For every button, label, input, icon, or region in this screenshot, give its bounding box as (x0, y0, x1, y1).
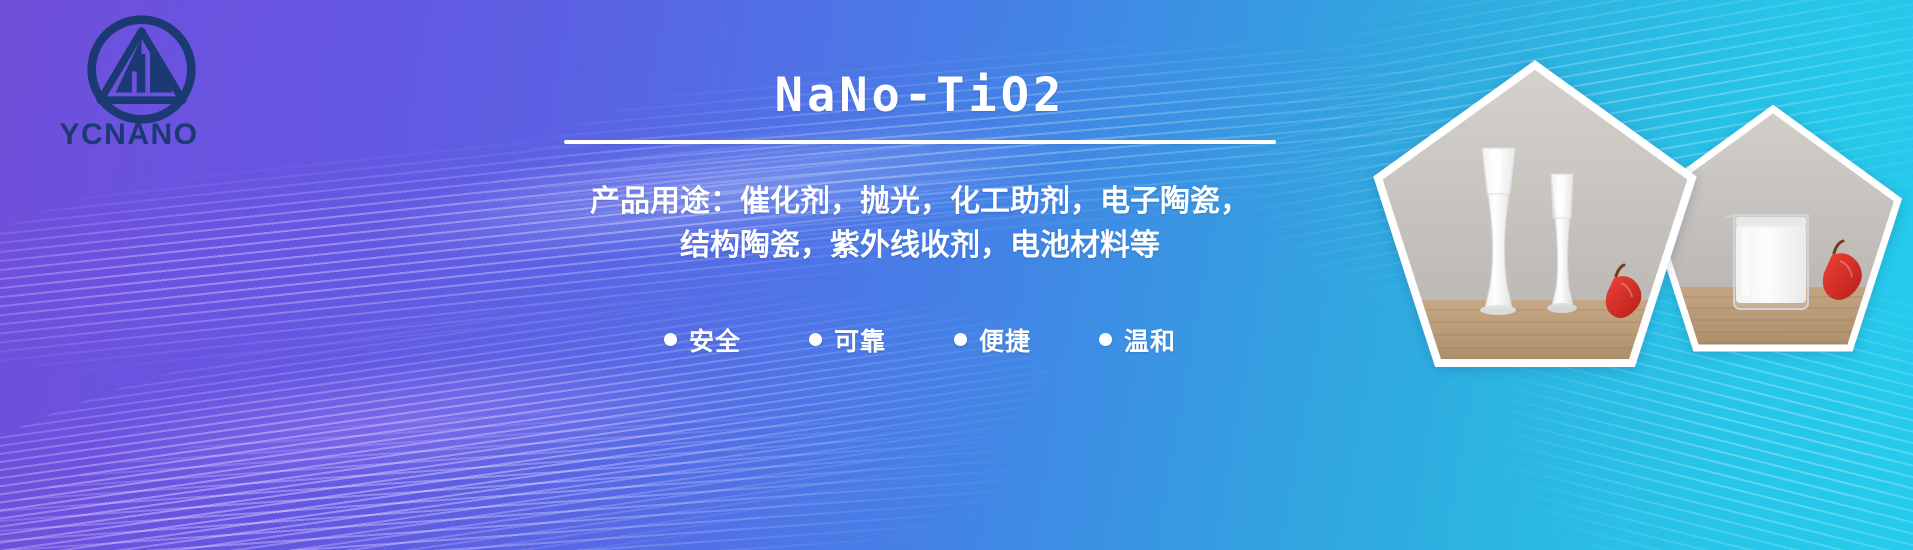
title-divider (564, 140, 1276, 144)
filled-circle-bullet-icon (809, 333, 822, 346)
brand-logo[interactable]: YCNANO (34, 10, 224, 160)
white-vases-photo[interactable] (1370, 60, 1700, 370)
feature-item-mild: 温和 (1099, 322, 1176, 358)
page-title: NaNo-TiO2 (775, 72, 1066, 119)
feature-label: 温和 (1124, 322, 1176, 358)
filled-circle-bullet-icon (664, 333, 677, 346)
product-photo-group (1370, 60, 1913, 480)
banner-content: NaNo-TiO2 产品用途：催化剂，抛光，化工助剂，电子陶瓷， 结构陶瓷，紫外… (470, 0, 1370, 550)
product-banner: YCNANO NaNo-TiO2 产品用途：催化剂，抛光，化工助剂，电子陶瓷， … (0, 0, 1913, 550)
filled-circle-bullet-icon (954, 333, 967, 346)
feature-item-reliable: 可靠 (809, 322, 886, 358)
feature-item-safe: 安全 (664, 322, 741, 358)
feature-label: 安全 (689, 322, 741, 358)
product-description: 产品用途：催化剂，抛光，化工助剂，电子陶瓷， 结构陶瓷，紫外线收剂，电池材料等 (490, 180, 1350, 268)
feature-label: 可靠 (834, 322, 886, 358)
feature-list: 安全 可靠 便捷 温和 (664, 322, 1176, 358)
description-line-1: 产品用途：催化剂，抛光，化工助剂，电子陶瓷， (490, 180, 1350, 224)
feature-item-convenient: 便捷 (954, 322, 1031, 358)
filled-circle-bullet-icon (1099, 333, 1112, 346)
mountain-triangle-circle-logo-icon (84, 12, 199, 127)
brand-name: YCNANO (34, 118, 224, 152)
feature-label: 便捷 (979, 322, 1031, 358)
description-line-2: 结构陶瓷，紫外线收剂，电池材料等 (490, 224, 1350, 268)
